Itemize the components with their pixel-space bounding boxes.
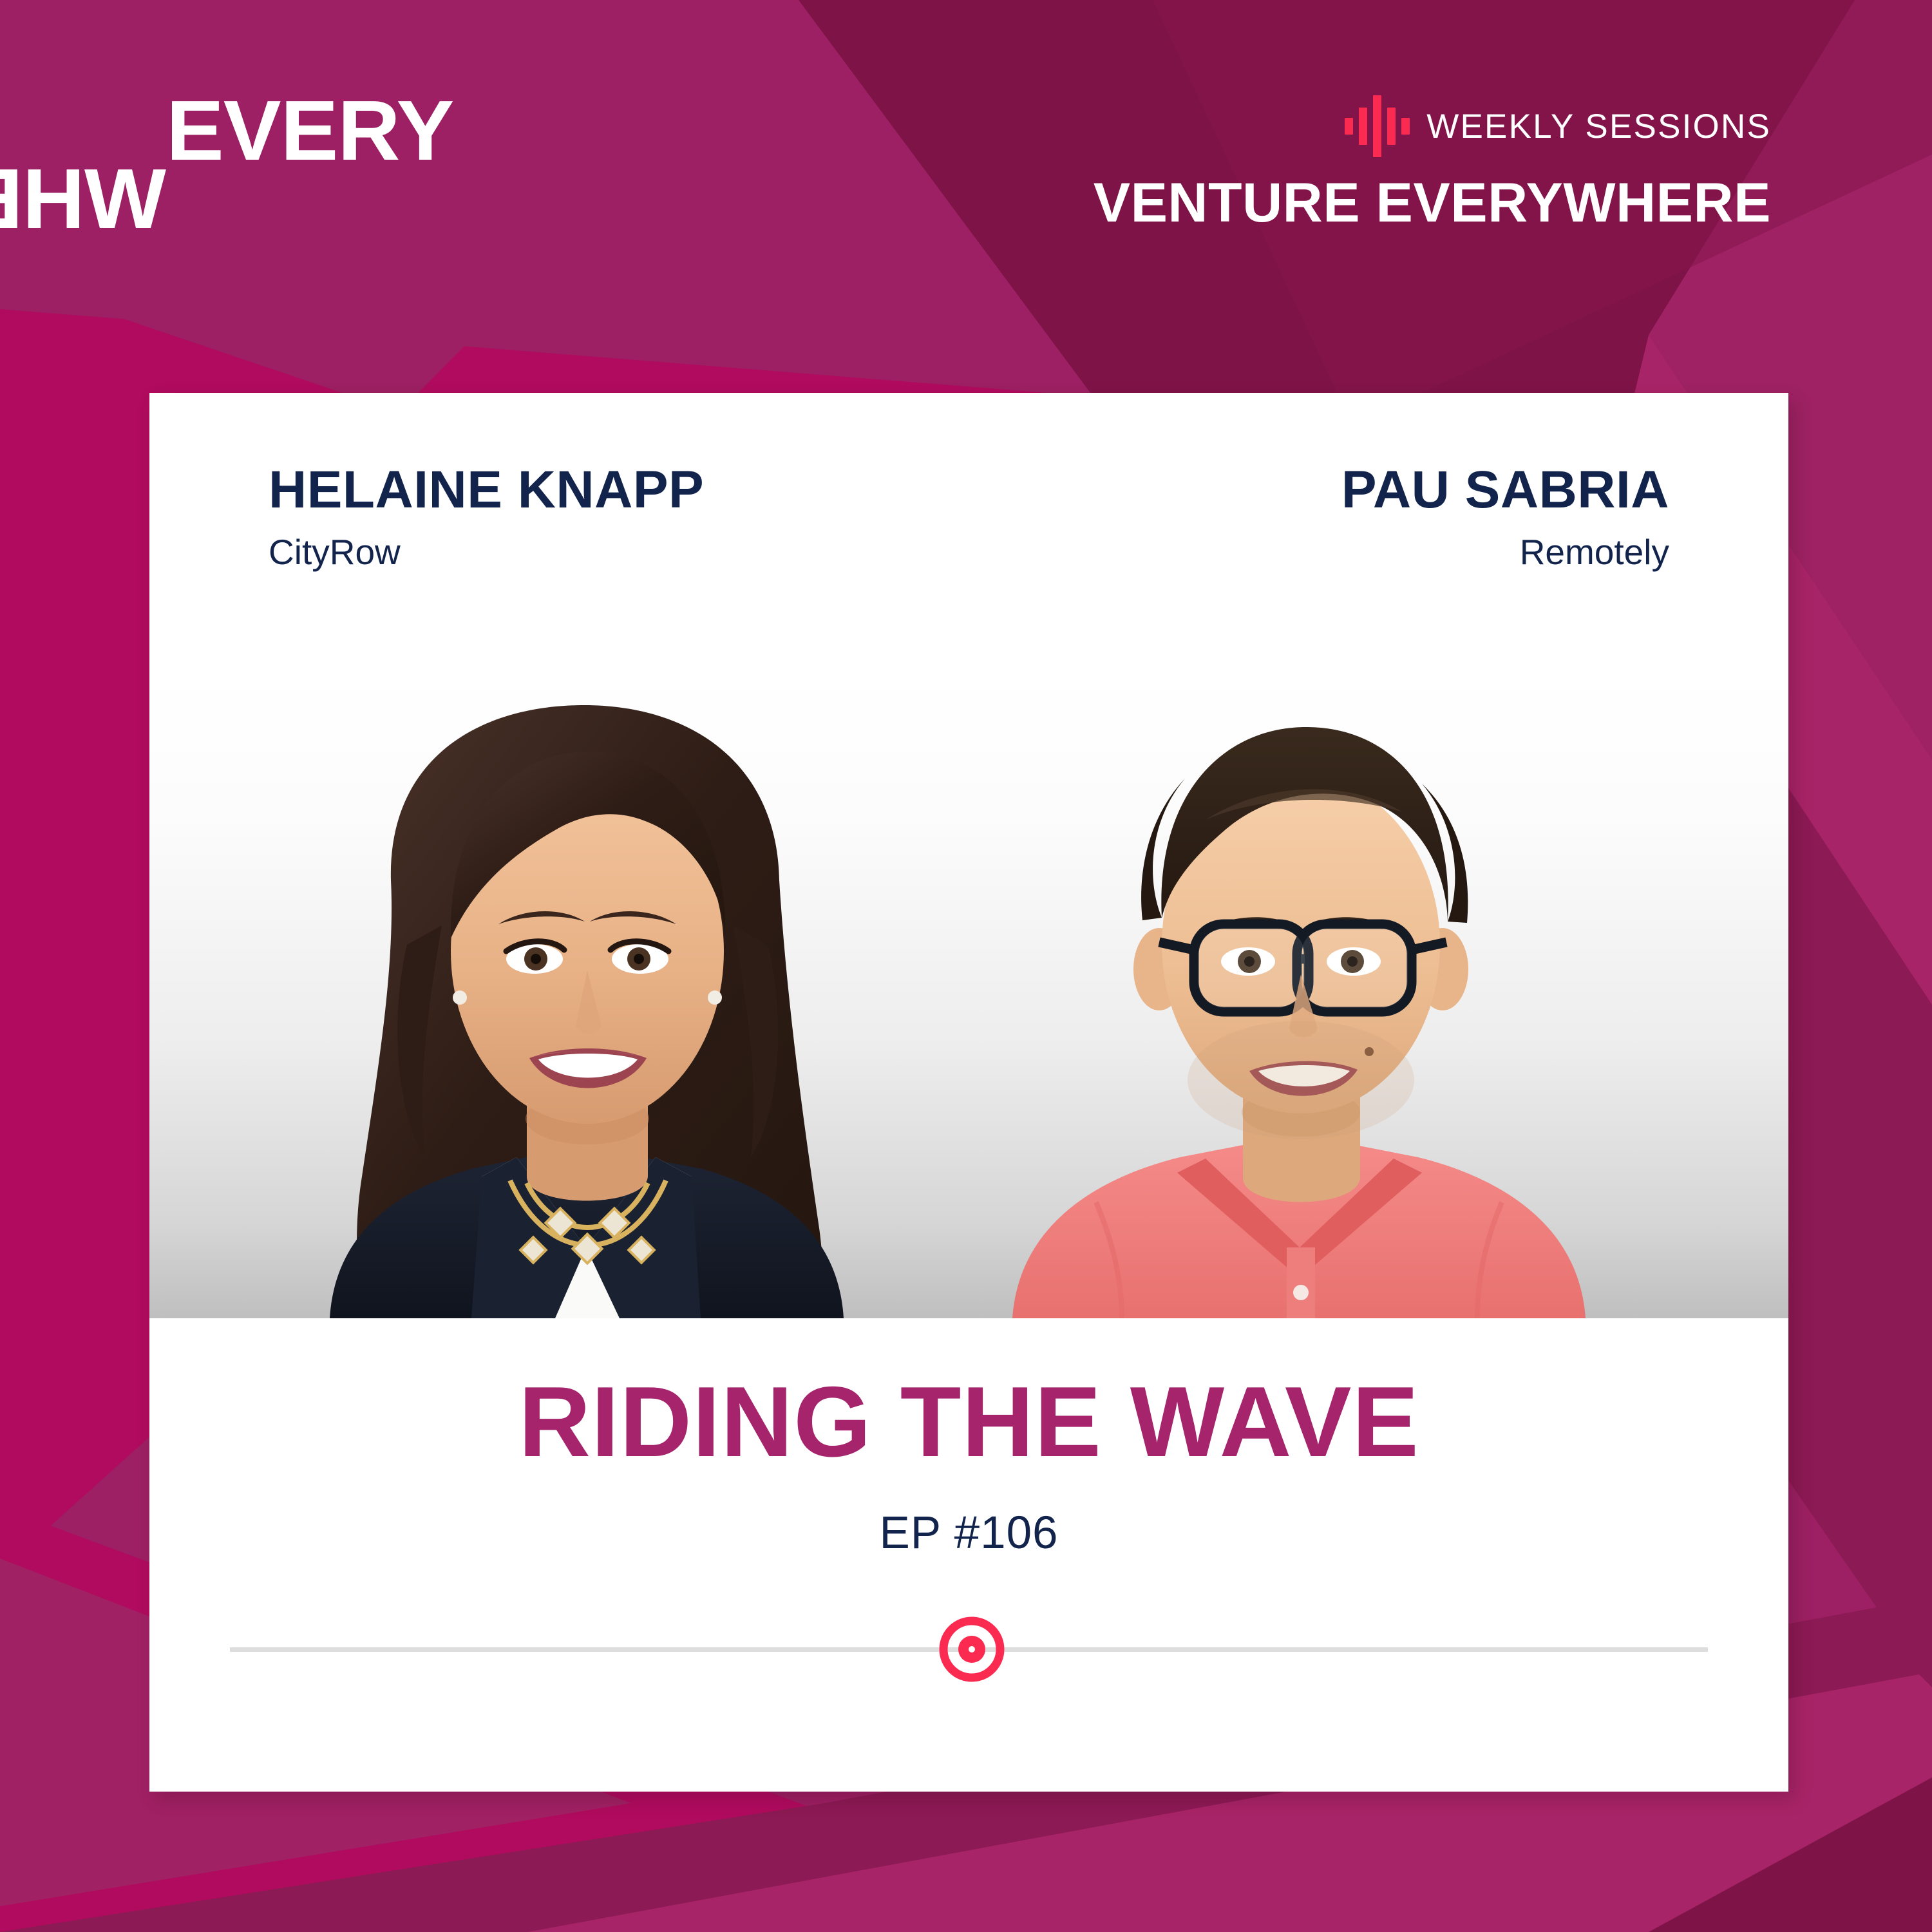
guest-company-left: CityRow	[269, 535, 969, 570]
weekly-sessions-label: WEEKLY SESSIONS	[1426, 107, 1771, 146]
guest-names-row: HELAINE KNAPP CityRow PAU SABRIA Remotel…	[149, 393, 1788, 615]
show-title: VENTURE EVERYWHERE	[1094, 171, 1771, 235]
episode-card: HELAINE KNAPP CityRow PAU SABRIA Remotel…	[149, 393, 1788, 1792]
episode-title: RIDING THE WAVE	[149, 1372, 1788, 1472]
everywhere-logo: EVERY WHERE	[166, 97, 462, 232]
bullseye-target-icon	[939, 1616, 1005, 1682]
logo-line-every: EVERY	[166, 97, 468, 165]
logo-line-where-mirrored: WHERE	[0, 165, 166, 233]
guest-photos-band	[149, 674, 1788, 1318]
episode-number: EP #106	[149, 1510, 1788, 1556]
audio-waveform-icon	[1345, 95, 1410, 157]
portrait-pau-sabria	[903, 674, 1708, 1318]
portrait-helaine-knapp	[169, 674, 1006, 1318]
guest-block-left: HELAINE KNAPP CityRow	[149, 393, 969, 615]
podcast-cover: EVERY WHERE WEEKLY SESSIONS VENTURE EVER…	[0, 0, 1932, 1932]
weekly-sessions-row: WEEKLY SESSIONS	[1094, 95, 1771, 157]
guest-block-right: PAU SABRIA Remotely	[969, 393, 1789, 615]
show-header: WEEKLY SESSIONS VENTURE EVERYWHERE	[1094, 95, 1771, 235]
guest-company-right: Remotely	[969, 535, 1670, 570]
guest-name-right: PAU SABRIA	[969, 464, 1670, 516]
guest-name-left: HELAINE KNAPP	[269, 464, 969, 516]
